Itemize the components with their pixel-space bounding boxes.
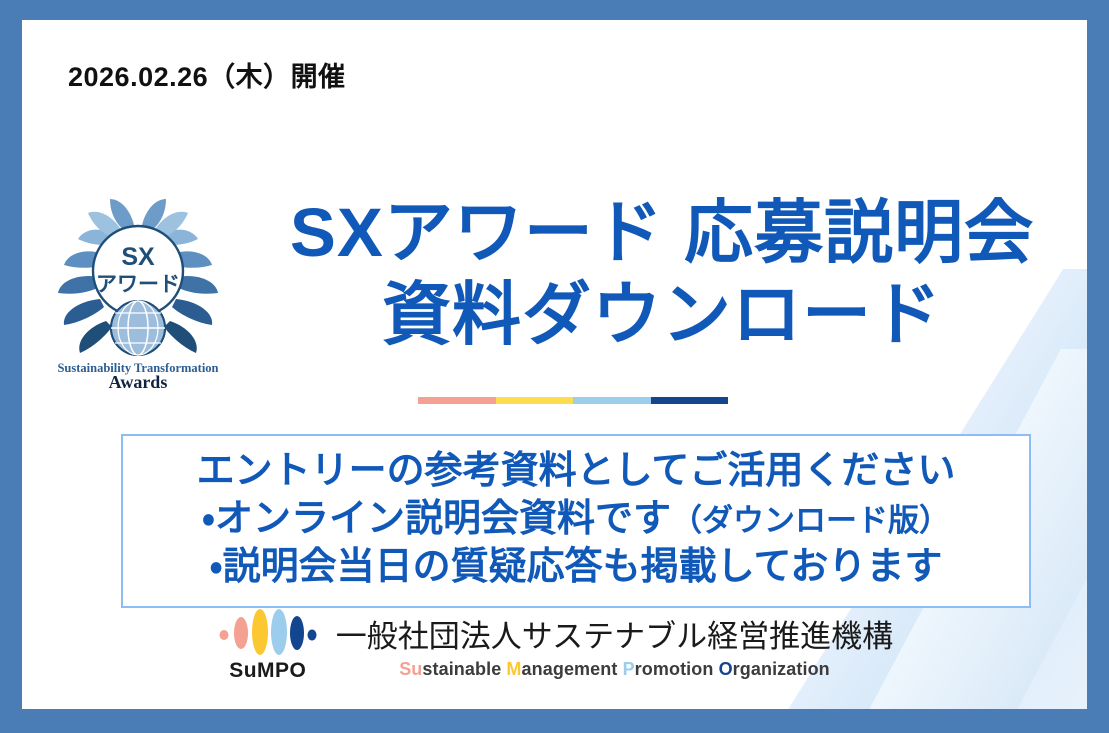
poster-title: SXアワード 応募説明会 資料ダウンロード <box>222 198 1087 351</box>
highlight-line-1-main: エントリーの参考資料としてご活用ください <box>197 450 956 492</box>
title-line-2: 資料ダウンロード <box>222 280 1087 350</box>
poster-frame: 2026.02.26（木）開催 <box>0 0 1109 733</box>
emblem-caption-line2: Awards <box>109 372 168 392</box>
highlight-line-3-main: ・説明会当日の質疑応答も掲載しております <box>210 546 943 588</box>
organization-name-ja: 一般社団法人サステナブル経営推進機構 <box>336 611 893 656</box>
title-line-1: SXアワード 応募説明会 <box>222 198 1087 268</box>
highlight-line-1: エントリーの参考資料としてご活用ください <box>133 448 1019 496</box>
highlight-line-2: ・オンライン説明会資料です（ダウンロード版） <box>133 496 1019 544</box>
emblem-ring-text-bottom: アワード <box>96 273 180 296</box>
sumpo-logo: SuMPO <box>216 608 320 683</box>
rule-segment-1 <box>418 397 496 404</box>
sumpo-mark-icon <box>216 608 320 658</box>
organization-footer: SuMPO 一般社団法人サステナブル経営推進機構 Sustainable Man… <box>22 608 1087 683</box>
rule-segment-3 <box>573 397 651 404</box>
rule-segment-2 <box>496 397 574 404</box>
sx-award-emblem: SX アワード Sustainability Transformation Aw… <box>48 185 228 395</box>
sumpo-wordmark: SuMPO <box>229 659 306 683</box>
poster-canvas: 2026.02.26（木）開催 <box>22 20 1087 709</box>
organization-name-en: Sustainable Management Promotion Organiz… <box>336 659 893 680</box>
color-rule <box>418 397 728 404</box>
highlight-line-2-main: ・オンライン説明会資料です <box>202 498 671 540</box>
emblem-ring-text-top: SX <box>121 243 155 271</box>
highlight-box: エントリーの参考資料としてご活用ください ・オンライン説明会資料です（ダウンロー… <box>121 434 1031 608</box>
organization-name-block: 一般社団法人サステナブル経営推進機構 Sustainable Managemen… <box>336 611 893 680</box>
rule-segment-4 <box>651 397 729 404</box>
event-date: 2026.02.26（木）開催 <box>68 55 346 94</box>
highlight-line-3: ・説明会当日の質疑応答も掲載しております <box>133 544 1019 592</box>
globe-icon <box>111 301 165 355</box>
highlight-line-2-note: （ダウンロード版） <box>671 503 950 538</box>
